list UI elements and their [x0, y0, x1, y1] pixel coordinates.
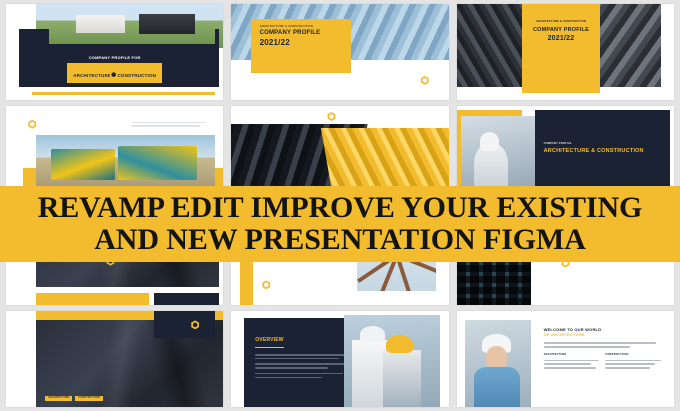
- slide-navy-bottom-block: [154, 293, 219, 305]
- slide-photo-roller: [36, 135, 214, 189]
- slide-body-text: [132, 122, 206, 130]
- slide-title-main: COMPANY PROFILE: [260, 30, 347, 37]
- photo-figure-2: [383, 350, 421, 407]
- headline-line-2: AND NEW PRESENTATION FIGMA: [94, 224, 586, 256]
- slide-photo-house-top: [49, 6, 214, 45]
- slide-eyebrow: COMPANY PROFILE: [544, 143, 657, 146]
- slide-title-group: WELCOME TO OUR WORLD OF ARCHITECTURE ARC…: [544, 328, 661, 371]
- slide-column-1: ARCHITECTURE: [544, 354, 600, 371]
- slide-title-group: ARCHITECTURE & CONSTRUCTION COMPANY PROF…: [260, 25, 347, 47]
- slide-title-main: OVERVIEW: [255, 337, 283, 343]
- hexagon-logo-icon: [327, 112, 336, 121]
- slide-thumbnail[interactable]: ARCHITECTURE CONSTRUCTION: [6, 311, 223, 407]
- photo-hardhat-yellow: [386, 335, 413, 353]
- slide-title-line2: OF ARCHITECTURE: [544, 333, 661, 338]
- hexagon-logo-icon: [420, 76, 429, 85]
- slide-thumbnail[interactable]: WELCOME TO OUR WORLD OF ARCHITECTURE ARC…: [457, 311, 674, 407]
- logo: [262, 280, 273, 289]
- slide-yellow-bottom-bar: [36, 293, 149, 305]
- slide-thumbnail[interactable]: ARCHITECTURE & CONSTRUCTION COMPANY PROF…: [231, 4, 448, 100]
- slide-logo-box: [154, 311, 215, 338]
- headline-banner: REVAMP EDIT IMPROVE YOUR EXISTING AND NE…: [0, 186, 680, 262]
- slide-title-group: ARCHITECTURE & CONSTRUCTION COMPANY PROF…: [524, 21, 598, 42]
- slide-title-underline: OVERVIEW: [255, 328, 283, 348]
- slide-year: 2021/22: [260, 38, 347, 47]
- slide-thumbnail[interactable]: OVERVIEW: [231, 311, 448, 407]
- slide-yellow-panel: [522, 4, 600, 93]
- slide-label-1: ARCHITECTURE: [45, 396, 72, 401]
- hexagon-logo-icon: [262, 280, 271, 289]
- slide-title-group: OVERVIEW: [255, 328, 351, 380]
- slide-label-chips: ARCHITECTURE CONSTRUCTION: [45, 396, 103, 401]
- slide-title-group: COMPANY PROFILE ARCHITECTURE & CONSTRUCT…: [544, 143, 657, 154]
- slide-column-2: CONSTRUCTION: [605, 354, 661, 371]
- slide-title-main: COMPANY PROFILE: [524, 27, 598, 33]
- slide-eyebrow: ARCHITECTURE & CONSTRUCTION: [260, 25, 347, 28]
- photo-shirt: [474, 367, 520, 407]
- column-heading: ARCHITECTURE: [544, 354, 600, 357]
- logo: [420, 76, 431, 85]
- hexagon-logo-icon: [28, 120, 37, 129]
- photo-hardhat-white: [360, 326, 385, 343]
- slide-thumbnail[interactable]: ARCHITECTURE & CONSTRUCTION COMPANY PROF…: [457, 4, 674, 100]
- slide-title-small: COMPANY PROFILE FOR: [6, 56, 223, 61]
- logo: [191, 320, 202, 329]
- logo: [28, 120, 39, 129]
- slide-gallery-stage: COMPANY PROFILE FOR ARCHITECTURE & CONST…: [0, 0, 680, 411]
- slide-intro-text: [544, 342, 661, 347]
- column-heading: CONSTRUCTION: [605, 354, 661, 357]
- logo: [109, 70, 120, 79]
- hexagon-logo-icon: [191, 320, 200, 329]
- headline-line-1: REVAMP EDIT IMPROVE YOUR EXISTING: [38, 192, 643, 224]
- slide-photo-engineer: [465, 320, 530, 407]
- logo: [327, 112, 338, 121]
- slide-thumbnail[interactable]: COMPANY PROFILE FOR ARCHITECTURE & CONST…: [6, 4, 223, 100]
- slide-label-2: CONSTRUCTION: [75, 396, 103, 401]
- slide-columns: ARCHITECTURE CONSTRUCTION: [544, 354, 661, 371]
- slide-year: 2021/22: [524, 35, 598, 43]
- slide-title-main: ARCHITECTURE & CONSTRUCTION: [544, 148, 657, 154]
- slide-photo-engineers: [344, 315, 440, 407]
- hexagon-logo-icon: [109, 70, 118, 79]
- slide-accent-bar: [32, 92, 215, 95]
- slide-body-text: [255, 354, 351, 378]
- slide-eyebrow: ARCHITECTURE & CONSTRUCTION: [524, 21, 598, 24]
